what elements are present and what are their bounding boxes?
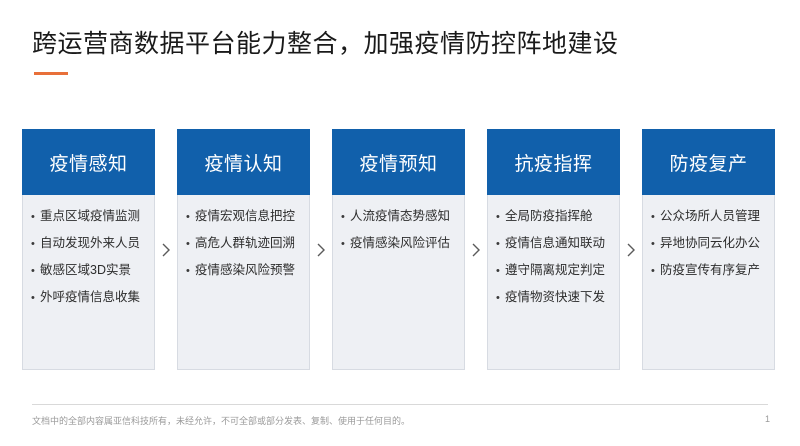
card-body: • 全局防疫指挥舱 • 疫情信息通知联动 • 遵守隔离规定判定 • 疫情物资快速… [488,195,619,327]
slide: 跨运营商数据平台能力整合，加强疫情防控阵地建设 疫情感知 • 重点区域疫情监测 … [0,0,800,446]
list-item-label: 公众场所人员管理 [660,209,760,225]
list-item-label: 自动发现外来人员 [40,236,140,252]
title-accent-rule [34,72,68,75]
card-抗疫指挥[interactable]: 抗疫指挥 • 全局防疫指挥舱 • 疫情信息通知联动 • 遵守隔离规定判定 • 疫… [487,130,620,370]
bullet-icon: • [186,263,195,279]
card-heading-label: 抗疫指挥 [514,149,592,176]
bullet-icon: • [651,236,660,252]
card-body: • 公众场所人员管理 • 异地协同云化办公 • 防疫宣传有序复产 [643,195,774,300]
list-item-label: 疫情信息通知联动 [505,236,605,252]
list-item-label: 人流疫情态势感知 [350,209,450,225]
bullet-icon: • [186,236,195,252]
page-number: 1 [765,414,770,424]
list-item: • 敏感区域3D实景 [31,263,146,279]
list-item-label: 全局防疫指挥舱 [505,209,593,225]
card-heading-label: 疫情认知 [204,149,282,176]
card-header: 疫情预知 [332,129,465,195]
bullet-icon: • [496,236,505,252]
bullet-icon: • [341,236,350,252]
card-防疫复产[interactable]: 防疫复产 • 公众场所人员管理 • 异地协同云化办公 • 防疫宣传有序复产 [642,130,775,370]
footer-disclaimer: 文档中的全部内容属亚信科技所有，未经允许，不可全部或部分发表、复制、使用于任何目… [32,414,410,427]
chevron-right-icon [310,130,332,370]
bullet-icon: • [31,290,40,306]
list-item: • 异地协同云化办公 [651,236,766,252]
bullet-icon: • [496,263,505,279]
bullet-icon: • [31,236,40,252]
card-header: 抗疫指挥 [487,129,620,195]
card-疫情认知[interactable]: 疫情认知 • 疫情宏观信息把控 • 高危人群轨迹回溯 • 疫情感染风险预警 [177,130,310,370]
card-body: • 人流疫情态势感知 • 疫情感染风险评估 [333,195,464,273]
list-item-label: 异地协同云化办公 [660,236,760,252]
card-heading-label: 疫情预知 [359,149,437,176]
card-header: 疫情感知 [22,129,155,195]
list-item: • 外呼疫情信息收集 [31,290,146,306]
list-item-label: 重点区域疫情监测 [40,209,140,225]
card-header: 防疫复产 [642,129,775,195]
list-item: • 自动发现外来人员 [31,236,146,252]
card-疫情预知[interactable]: 疫情预知 • 人流疫情态势感知 • 疫情感染风险评估 [332,130,465,370]
bullet-icon: • [186,209,195,225]
page-title: 跨运营商数据平台能力整合，加强疫情防控阵地建设 [32,24,619,60]
card-疫情感知[interactable]: 疫情感知 • 重点区域疫情监测 • 自动发现外来人员 • 敏感区域3D实景 • … [22,130,155,370]
list-item: • 遵守隔离规定判定 [496,263,611,279]
list-item-label: 疫情感染风险评估 [350,236,450,252]
bullet-icon: • [651,263,660,279]
list-item: • 疫情宏观信息把控 [186,209,301,225]
list-item: • 防疫宣传有序复产 [651,263,766,279]
card-body: • 疫情宏观信息把控 • 高危人群轨迹回溯 • 疫情感染风险预警 [178,195,309,300]
bullet-icon: • [31,209,40,225]
chevron-right-icon [155,130,177,370]
list-item: • 疫情信息通知联动 [496,236,611,252]
list-item: • 人流疫情态势感知 [341,209,456,225]
list-item-label: 疫情感染风险预警 [195,263,295,279]
list-item: • 疫情感染风险评估 [341,236,456,252]
bullet-icon: • [31,263,40,279]
card-header: 疫情认知 [177,129,310,195]
bullet-icon: • [496,290,505,306]
list-item-label: 敏感区域3D实景 [40,263,131,279]
list-item: • 重点区域疫情监测 [31,209,146,225]
list-item: • 疫情物资快速下发 [496,290,611,306]
footer-divider [32,404,768,405]
list-item-label: 防疫宣传有序复产 [660,263,760,279]
bullet-icon: • [496,209,505,225]
chevron-right-icon [620,130,642,370]
list-item-label: 外呼疫情信息收集 [40,290,140,306]
bullet-icon: • [651,209,660,225]
list-item: • 疫情感染风险预警 [186,263,301,279]
list-item-label: 遵守隔离规定判定 [505,263,605,279]
card-body: • 重点区域疫情监测 • 自动发现外来人员 • 敏感区域3D实景 • 外呼疫情信… [23,195,154,327]
process-cards: 疫情感知 • 重点区域疫情监测 • 自动发现外来人员 • 敏感区域3D实景 • … [22,130,778,370]
list-item-label: 高危人群轨迹回溯 [195,236,295,252]
bullet-icon: • [341,209,350,225]
chevron-right-icon [465,130,487,370]
list-item: • 全局防疫指挥舱 [496,209,611,225]
card-heading-label: 防疫复产 [669,149,747,176]
list-item-label: 疫情宏观信息把控 [195,209,295,225]
list-item: • 高危人群轨迹回溯 [186,236,301,252]
list-item: • 公众场所人员管理 [651,209,766,225]
card-heading-label: 疫情感知 [49,149,127,176]
list-item-label: 疫情物资快速下发 [505,290,605,306]
